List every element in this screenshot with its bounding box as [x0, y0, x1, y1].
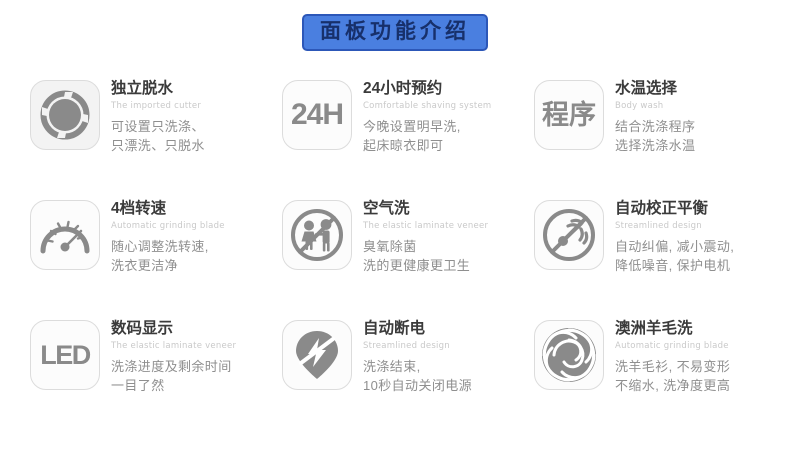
feature-subtitle: The imported cutter — [111, 101, 205, 111]
feature-text: 自动校正平衡 Streamlined design 自动纠偏, 减小震动, 降低… — [615, 192, 734, 276]
speed-gauge-icon — [30, 200, 100, 270]
program-text-icon: 程序 — [534, 80, 604, 150]
feature-card-24h: 24H 24小时预约 Comfortable shaving system 今晚… — [282, 72, 518, 192]
feature-description: 今晚设置明早洗, 起床晾衣即可 — [363, 118, 491, 156]
power-off-pin-icon — [282, 320, 352, 390]
feature-text: 澳洲羊毛洗 Automatic grinding blade 洗羊毛衫, 不易变… — [615, 312, 730, 396]
24h-text-icon: 24H — [282, 80, 352, 150]
feature-subtitle: Automatic grinding blade — [615, 341, 730, 351]
feature-description: 洗涤结束, 10秒自动关闭电源 — [363, 358, 472, 396]
feature-description: 洗羊毛衫, 不易变形 不缩水, 洗净度更高 — [615, 358, 730, 396]
program-glyph: 程序 — [542, 102, 596, 129]
feature-text: 空气洗 The elastic laminate veneer 臭氧除菌 洗的更… — [363, 192, 488, 276]
feature-text: 独立脱水 The imported cutter 可设置只洗涤、 只漂洗、只脱水 — [111, 72, 205, 156]
feature-subtitle: Streamlined design — [363, 341, 472, 351]
feature-text: 自动断电 Streamlined design 洗涤结束, 10秒自动关闭电源 — [363, 312, 472, 396]
feature-title: 独立脱水 — [111, 80, 205, 98]
feature-title: 数码显示 — [111, 320, 236, 338]
feature-description: 可设置只洗涤、 只漂洗、只脱水 — [111, 118, 205, 156]
feature-title: 自动断电 — [363, 320, 472, 338]
feature-subtitle: Automatic grinding blade — [111, 221, 225, 231]
feature-card-water-temp: 程序 水温选择 Body wash 结合洗涤程序 选择洗涤水温 — [534, 72, 770, 192]
feature-description: 结合洗涤程序 选择洗涤水温 — [615, 118, 695, 156]
no-vibration-balance-icon — [534, 200, 604, 270]
feature-text: 4档转速 Automatic grinding blade 随心调整洗转速, 洗… — [111, 192, 225, 276]
page-title-container: 面板功能介绍 — [0, 14, 790, 51]
feature-subtitle: Comfortable shaving system — [363, 101, 491, 111]
feature-card-auto-balance: 自动校正平衡 Streamlined design 自动纠偏, 减小震动, 降低… — [534, 192, 770, 312]
feature-subtitle: Streamlined design — [615, 221, 734, 231]
led-text-icon: LED — [30, 320, 100, 390]
feature-text: 水温选择 Body wash 结合洗涤程序 选择洗涤水温 — [615, 72, 695, 156]
led-glyph: LED — [40, 342, 90, 369]
feature-description: 随心调整洗转速, 洗衣更洁净 — [111, 238, 225, 276]
24h-glyph: 24H — [291, 100, 343, 130]
feature-card-spin: 独立脱水 The imported cutter 可设置只洗涤、 只漂洗、只脱水 — [30, 72, 266, 192]
feature-description: 臭氧除菌 洗的更健康更卫生 — [363, 238, 488, 276]
feature-subtitle: Body wash — [615, 101, 695, 111]
feature-title: 24小时预约 — [363, 80, 491, 98]
feature-text: 数码显示 The elastic laminate veneer 洗涤进度及剩余… — [111, 312, 236, 396]
feature-card-speed: 4档转速 Automatic grinding blade 随心调整洗转速, 洗… — [30, 192, 266, 312]
feature-title: 自动校正平衡 — [615, 200, 734, 218]
feature-card-air-wash: 空气洗 The elastic laminate veneer 臭氧除菌 洗的更… — [282, 192, 518, 312]
feature-title: 水温选择 — [615, 80, 695, 98]
feature-title: 澳洲羊毛洗 — [615, 320, 730, 338]
feature-grid: 独立脱水 The imported cutter 可设置只洗涤、 只漂洗、只脱水… — [30, 72, 770, 432]
page-title: 面板功能介绍 — [302, 14, 488, 51]
feature-subtitle: The elastic laminate veneer — [111, 341, 236, 351]
no-germs-figures-icon — [282, 200, 352, 270]
feature-description: 洗涤进度及剩余时间 一目了然 — [111, 358, 236, 396]
spin-ring-icon — [30, 80, 100, 150]
feature-subtitle: The elastic laminate veneer — [363, 221, 488, 231]
panel-feature-intro-page: 面板功能介绍 独立脱水 The imported cut — [0, 0, 790, 469]
feature-card-wool-wash: 澳洲羊毛洗 Automatic grinding blade 洗羊毛衫, 不易变… — [534, 312, 770, 432]
feature-card-led-display: LED 数码显示 The elastic laminate veneer 洗涤进… — [30, 312, 266, 432]
feature-title: 空气洗 — [363, 200, 488, 218]
feature-text: 24小时预约 Comfortable shaving system 今晚设置明早… — [363, 72, 491, 156]
feature-description: 自动纠偏, 减小震动, 降低噪音, 保护电机 — [615, 238, 734, 276]
feature-title: 4档转速 — [111, 200, 225, 218]
wool-swirl-icon — [534, 320, 604, 390]
feature-card-auto-power-off: 自动断电 Streamlined design 洗涤结束, 10秒自动关闭电源 — [282, 312, 518, 432]
